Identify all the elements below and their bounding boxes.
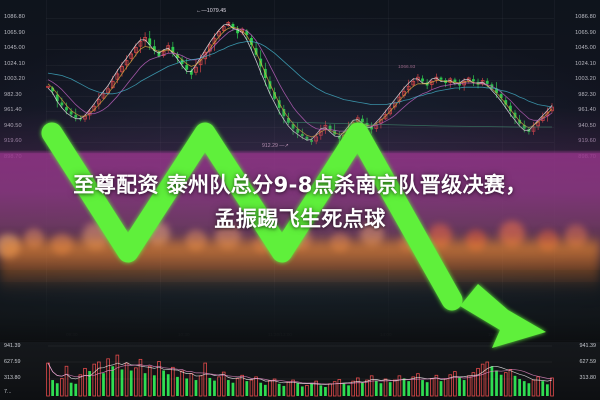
volume-axis-label: 627.59 xyxy=(580,360,597,365)
volume-axis-label: 313.80 xyxy=(4,376,21,381)
panel-divider xyxy=(0,340,600,341)
price-axis-label: 940.50 xyxy=(578,124,596,130)
price-axis-label: 1086.80 xyxy=(4,15,25,21)
price-axis-label: 982.30 xyxy=(578,93,596,99)
price-axis-label: 1065.90 xyxy=(4,31,25,37)
price-axis-label: 1086.80 xyxy=(575,15,596,21)
volume-axis-label: 627.59 xyxy=(4,360,21,365)
price-axis-label: 1003.20 xyxy=(4,77,25,83)
price-axis-label: 982.30 xyxy=(4,93,22,99)
headline-line-2: 孟振踢飞生死点球 xyxy=(0,202,600,236)
volume-plot xyxy=(0,340,600,400)
price-axis-label: 940.50 xyxy=(4,124,22,130)
time-axis-label: 09:30 xyxy=(66,333,78,338)
low-annotation: 912.29 —↗ xyxy=(262,144,289,149)
headline-line-1: 至尊配资 泰州队总分9-8点杀南京队晋级决赛， xyxy=(73,173,526,197)
headline-text: 至尊配资 泰州队总分9-8点杀南京队晋级决赛， 孟振踢飞生死点球 xyxy=(0,168,600,236)
volume-axis-label: 941.39 xyxy=(4,344,21,349)
price-axis-label: 1024.10 xyxy=(4,62,25,68)
time-axis-label: 11:30/13:00 xyxy=(268,333,292,338)
volume-axis-label: 313.80 xyxy=(580,376,597,381)
price-axis-label: 1024.10 xyxy=(575,62,596,68)
price-axis-label: 898.70 xyxy=(4,155,22,161)
volume-axis-label: 7... xyxy=(4,390,12,395)
ma-annotation: 1066.93 xyxy=(398,66,415,71)
price-axis-label: 898.70 xyxy=(578,155,596,161)
time-axis-label: 14:00 xyxy=(380,333,392,338)
volume-axis-label: 941.39 xyxy=(580,344,597,349)
price-axis-label: 961.40 xyxy=(578,108,596,114)
price-axis-label: 919.60 xyxy=(4,139,22,145)
price-axis-label: 1003.20 xyxy=(575,77,596,83)
price-axis-label: 1045.00 xyxy=(575,46,596,52)
price-axis-label: 961.40 xyxy=(4,108,22,114)
time-axis-label: 10:30 xyxy=(178,333,190,338)
volume-chart-panel xyxy=(0,340,600,400)
price-axis-label: 1045.00 xyxy=(4,46,25,52)
time-axis-label: 15:00 xyxy=(488,333,500,338)
peak-annotation: ←—1079.45 xyxy=(196,9,226,14)
chart-screenshot: 1086.801065.901045.001024.101003.20982.3… xyxy=(0,0,600,400)
price-axis-label: 1065.90 xyxy=(575,31,596,37)
price-axis-label: 919.60 xyxy=(578,139,596,145)
